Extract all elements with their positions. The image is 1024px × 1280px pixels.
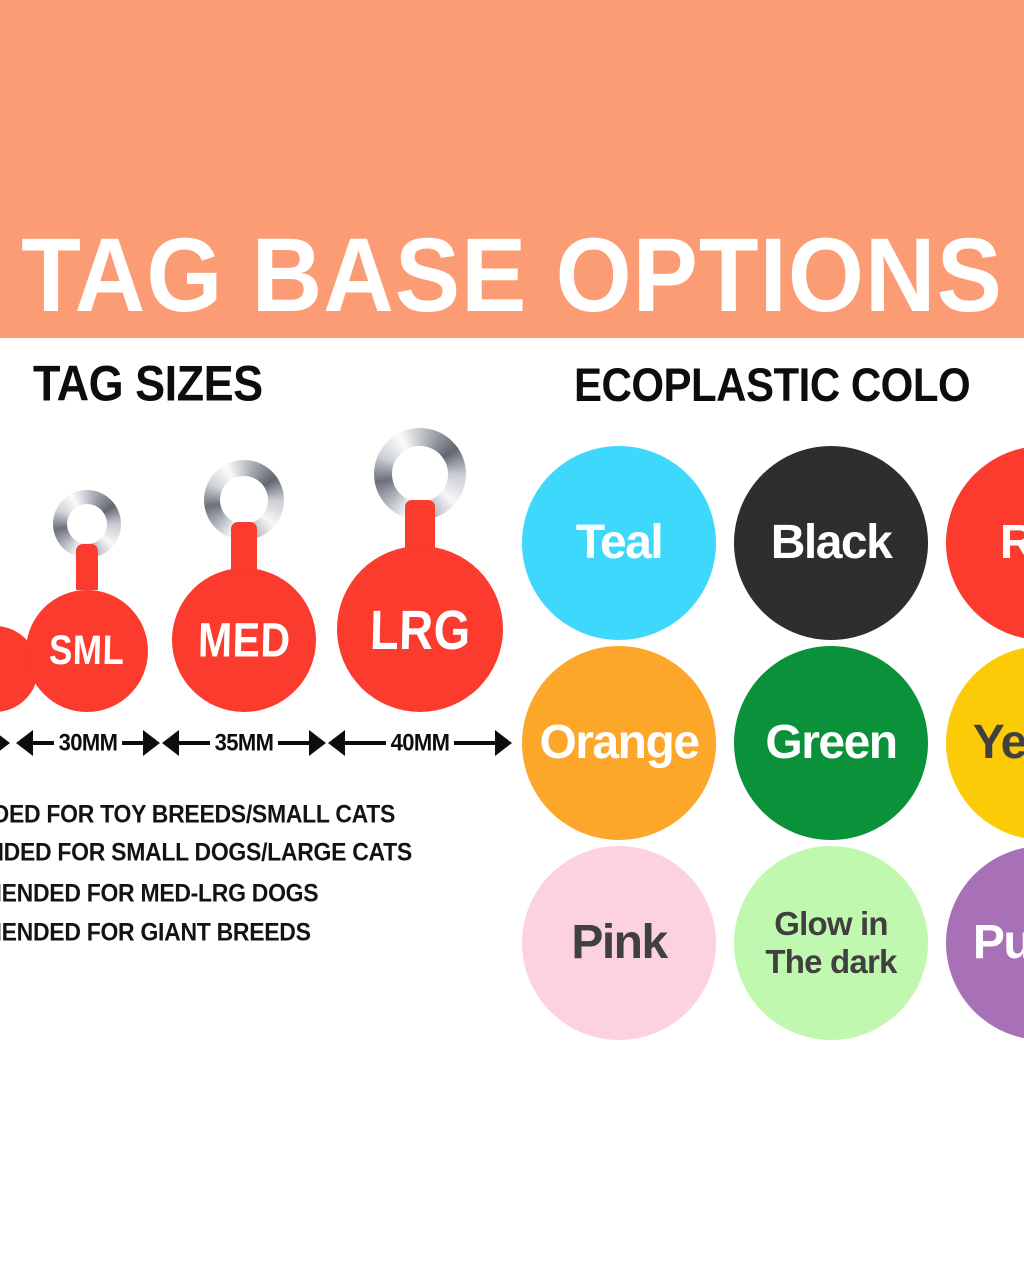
tag-base-options-infographic: TAG BASE OPTIONS TAG SIZES ECOPLASTIC CO… — [0, 0, 1024, 1280]
colour-swatch-label: Pink — [571, 919, 666, 967]
colour-swatch-yellow[interactable]: Yellow — [946, 646, 1024, 840]
ecoplastic-colours-panel: Teal Black Red Orange Green Yellow Pink … — [512, 440, 1024, 1040]
tag-sizes-panel: SML 30MM MED 35MM — [0, 430, 510, 770]
arrow-left-icon — [162, 730, 179, 756]
colour-swatch-pink[interactable]: Pink — [522, 846, 716, 1040]
tag-sizes-item-lrg: LRG — [332, 428, 508, 712]
tag-sizes-heading: TAG SIZES — [33, 358, 263, 408]
tag-body: LRG — [337, 546, 503, 712]
arrow-right-icon — [309, 730, 326, 756]
recommendation-line: OMMENDED FOR TOY BREEDS/SMALL CATS — [0, 802, 395, 827]
tag-body: MED — [172, 568, 316, 712]
arrow-right-icon — [143, 730, 160, 756]
tag-dimension-med: 35MM — [164, 726, 324, 760]
colour-swatch-label: Teal — [576, 519, 662, 567]
tag-size-label: LRG — [369, 597, 471, 662]
colour-swatch-label: Red — [1000, 519, 1024, 567]
colour-swatch-purple[interactable]: Purple — [946, 846, 1024, 1040]
colour-swatch-black[interactable]: Black — [734, 446, 928, 640]
tag-dimension-lrg: 40MM — [330, 726, 510, 760]
page-title: TAG BASE OPTIONS — [40, 228, 984, 322]
recommendation-line: COMMENDED FOR GIANT BREEDS — [0, 920, 311, 945]
tag-size-label: MED — [197, 612, 291, 667]
recommendation-line: COMMENDED FOR MED-LRG DOGS — [0, 881, 318, 906]
tag-dimension-sml: 30MM — [18, 726, 158, 760]
header-banner: TAG BASE OPTIONS — [0, 0, 1024, 338]
split-ring-hole — [220, 476, 268, 524]
colour-swatch-label: Black — [771, 519, 892, 567]
colour-swatch-label: Orange — [539, 719, 698, 767]
tag-stem — [76, 544, 98, 590]
tag-stem — [231, 522, 257, 574]
colour-swatch-label: Purple — [973, 919, 1024, 967]
arrow-left-icon — [16, 730, 33, 756]
arrow-right-icon — [0, 730, 10, 756]
colour-swatch-label: Green — [765, 719, 896, 767]
colour-swatch-green[interactable]: Green — [734, 646, 928, 840]
tag-dimension-partial — [0, 726, 8, 760]
dimension-label: 40MM — [386, 731, 455, 755]
arrow-right-icon — [495, 730, 512, 756]
page-title-text: TAG BASE OPTIONS — [21, 222, 1003, 327]
tag-sizes-item-med: MED — [168, 460, 320, 712]
colour-swatch-label: Glow in The dark — [756, 905, 906, 981]
split-ring-hole — [392, 446, 448, 502]
dimension-label: 30MM — [54, 731, 123, 755]
colour-swatch-orange[interactable]: Orange — [522, 646, 716, 840]
colour-swatch-teal[interactable]: Teal — [522, 446, 716, 640]
colour-swatch-glow-in-the-dark[interactable]: Glow in The dark — [734, 846, 928, 1040]
arrow-left-icon — [328, 730, 345, 756]
tag-size-label: SML — [49, 627, 125, 674]
ecoplastic-colours-heading: ECOPLASTIC COLO — [574, 362, 970, 409]
dimension-label: 35MM — [210, 731, 279, 755]
tag-body: SML — [26, 590, 148, 712]
split-ring-hole — [67, 504, 107, 544]
colour-swatch-red[interactable]: Red — [946, 446, 1024, 640]
tag-sizes-item-sml: SML — [22, 490, 152, 712]
recommendation-line: OMMENDED FOR SMALL DOGS/LARGE CATS — [0, 840, 412, 865]
colour-swatch-label: Yellow — [973, 719, 1024, 767]
